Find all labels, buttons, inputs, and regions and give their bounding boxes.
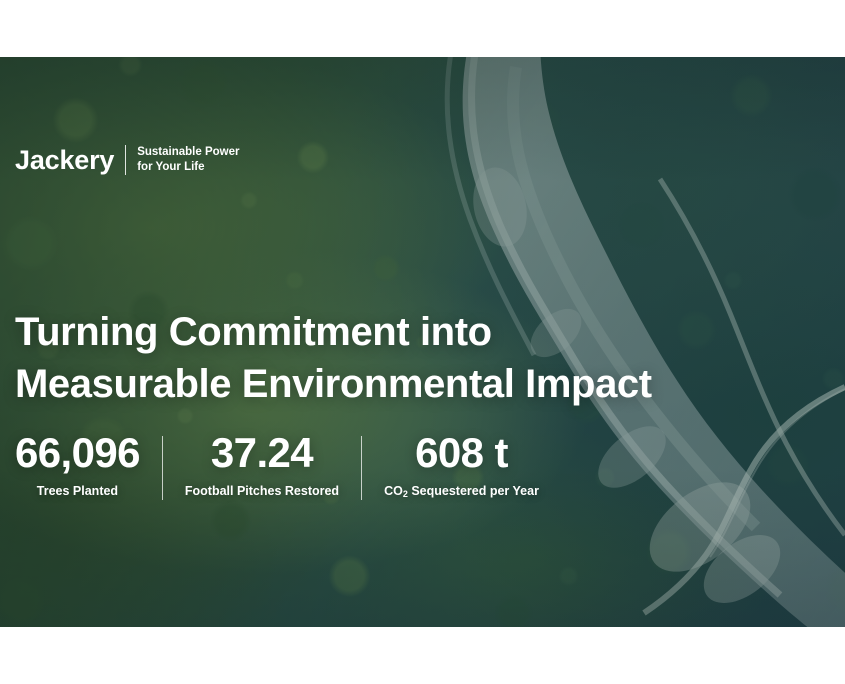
stat-co2-sequestered: 608 t CO2 Sequestered per Year: [362, 431, 561, 500]
brand-logo-lockup[interactable]: Jackery Sustainable Power for Your Life: [15, 145, 239, 175]
headline-line-2: Measurable Environmental Impact: [15, 358, 652, 410]
page-title: Turning Commitment into Measurable Envir…: [15, 306, 652, 410]
brand-tagline-line2: for Your Life: [137, 161, 204, 173]
brand-tagline: Sustainable Power for Your Life: [137, 145, 239, 174]
stat-label: CO2 Sequestered per Year: [384, 484, 539, 498]
stat-label: Trees Planted: [37, 484, 118, 498]
stat-value: 608 t: [415, 431, 508, 476]
stat-label: Football Pitches Restored: [185, 484, 339, 498]
brand-tagline-line1: Sustainable Power: [137, 146, 239, 158]
stat-trees-planted: 66,096 Trees Planted: [15, 431, 162, 500]
headline-line-1: Turning Commitment into: [15, 306, 652, 358]
stat-label-prefix: CO: [384, 484, 403, 498]
stat-label-suffix: Sequestered per Year: [408, 484, 539, 498]
stat-football-pitches-restored: 37.24 Football Pitches Restored: [163, 431, 361, 500]
stat-value: 37.24: [211, 431, 313, 476]
jackery-wordmark: Jackery: [15, 147, 114, 174]
stat-value: 66,096: [15, 431, 140, 476]
hero-banner: Jackery Sustainable Power for Your Life …: [0, 57, 845, 627]
logo-divider: [125, 145, 126, 175]
impact-stats-row: 66,096 Trees Planted 37.24 Football Pitc…: [15, 431, 561, 500]
page-canvas: Jackery Sustainable Power for Your Life …: [0, 0, 845, 684]
stat-label-subscript: 2: [403, 489, 408, 499]
